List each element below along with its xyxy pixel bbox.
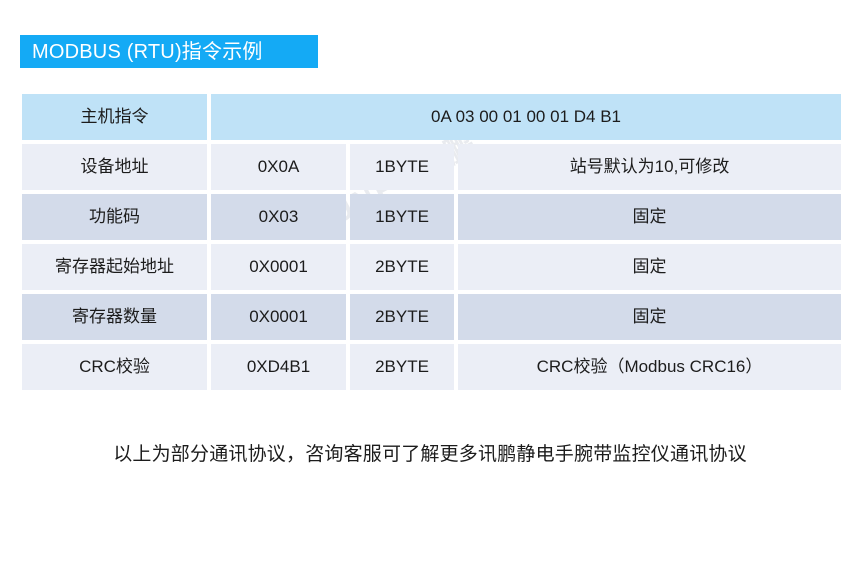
table-row: 寄存器数量 0X0001 2BYTE 固定 (22, 294, 841, 340)
row-size-cell: 2BYTE (350, 294, 454, 340)
section-title-text: MODBUS (RTU)指令示例 (32, 42, 263, 62)
row-value-cell: 0X0001 (211, 244, 346, 290)
row-size-cell: 2BYTE (350, 344, 454, 390)
row-label-cell: 设备地址 (22, 144, 207, 190)
row-size-cell: 2BYTE (350, 244, 454, 290)
row-label-cell: CRC校验 (22, 344, 207, 390)
row-label-cell: 寄存器数量 (22, 294, 207, 340)
header-label-cell: 主机指令 (22, 94, 207, 140)
table-row: 功能码 0X03 1BYTE 固定 (22, 194, 841, 240)
row-label-cell: 寄存器起始地址 (22, 244, 207, 290)
table-row: 设备地址 0X0A 1BYTE 站号默认为10,可修改 (22, 144, 841, 190)
row-value-cell: 0X03 (211, 194, 346, 240)
row-size-cell: 1BYTE (350, 194, 454, 240)
page-root: MODBUS (RTU)指令示例 SUNPN讯鹏 主机指令 0A 03 00 0… (0, 0, 860, 575)
header-command-cell: 0A 03 00 01 00 01 D4 B1 (211, 94, 841, 140)
row-value-cell: 0X0001 (211, 294, 346, 340)
row-value-cell: 0XD4B1 (211, 344, 346, 390)
row-remark-cell: 站号默认为10,可修改 (458, 144, 841, 190)
table-header-row: 主机指令 0A 03 00 01 00 01 D4 B1 (22, 94, 841, 140)
row-remark-cell: 固定 (458, 244, 841, 290)
row-remark-cell: CRC校验（Modbus CRC16） (458, 344, 841, 390)
row-remark-cell: 固定 (458, 194, 841, 240)
row-value-cell: 0X0A (211, 144, 346, 190)
table-row: CRC校验 0XD4B1 2BYTE CRC校验（Modbus CRC16） (22, 344, 841, 390)
footer-note: 以上为部分通讯协议，咨询客服可了解更多讯鹏静电手腕带监控仪通讯协议 (0, 443, 860, 468)
row-label-cell: 功能码 (22, 194, 207, 240)
row-remark-cell: 固定 (458, 294, 841, 340)
modbus-command-table: 主机指令 0A 03 00 01 00 01 D4 B1 设备地址 0X0A 1… (18, 90, 845, 394)
table-row: 寄存器起始地址 0X0001 2BYTE 固定 (22, 244, 841, 290)
row-size-cell: 1BYTE (350, 144, 454, 190)
section-title-banner: MODBUS (RTU)指令示例 (20, 35, 318, 68)
